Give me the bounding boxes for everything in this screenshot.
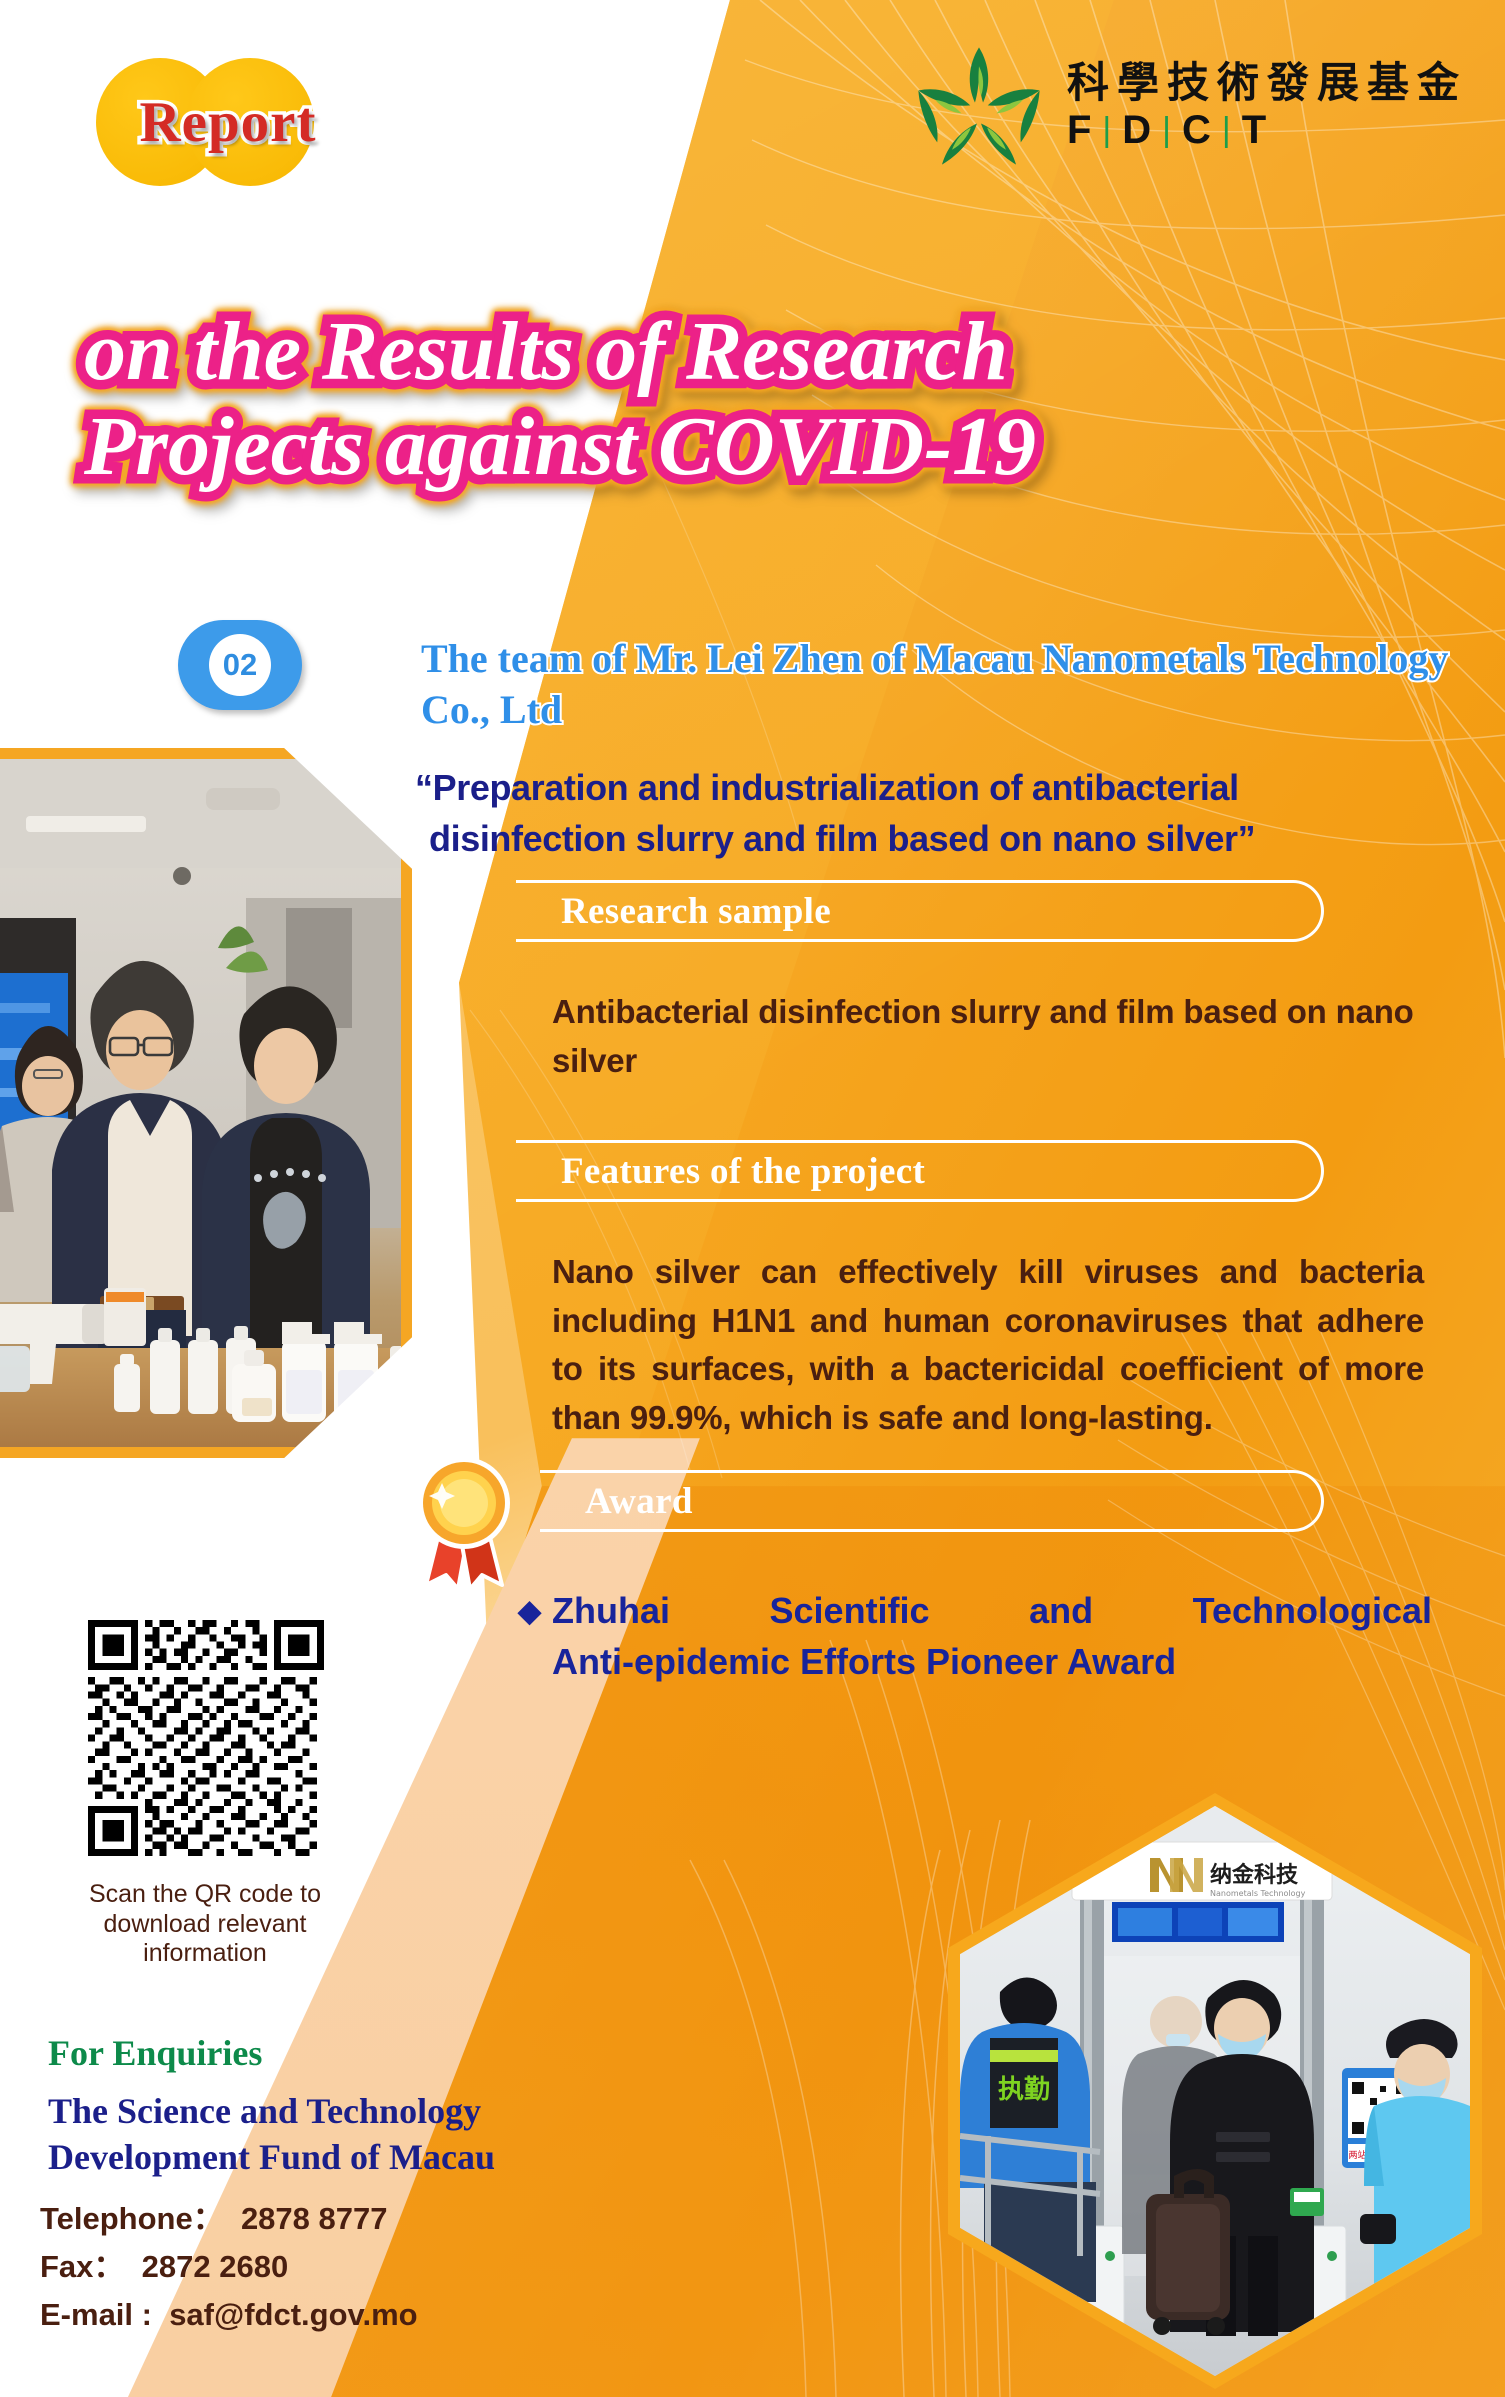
contact-telephone: Telephone： 2878 8777 [40,2195,600,2243]
fdct-separator-2: | [1162,113,1173,147]
section-header-research-sample-label: Research sample [516,890,831,933]
poster-root: Report 科學技術發展基金 [0,0,1505,2397]
fdct-logo: 科學技術發展基金 F | D | C | T [909,42,1467,170]
contact-details: Telephone： 2878 8777 Fax： 2872 2680 E-ma… [40,2195,600,2339]
poster-title: on the Results of Research Projects agai… [84,305,1414,495]
project-title: “Preparation and industrialization of an… [415,762,1395,864]
qr-caption-line-3: information [40,1939,370,1969]
svg-text:纳金科技: 纳金科技 [1210,1862,1299,1888]
qr-caption-line-2: download relevant [40,1910,370,1940]
section-body-features: Nano silver can effectively kill viruses… [552,1248,1424,1442]
fdct-letter-d: D [1122,110,1153,150]
section-header-research-sample: Research sample [516,880,1324,942]
section-header-features-label: Features of the project [516,1150,925,1193]
fdct-letter-c: C [1182,110,1213,150]
organisation-name-line-1: The Science and Technology [48,2088,568,2134]
project-number-badge: 02 [178,620,302,710]
fdct-separator-1: | [1102,113,1113,147]
fdct-logo-chinese: 科學技術發展基金 [1067,62,1467,104]
poster-title-line-1: on the Results of Research [84,305,1414,400]
fdct-logo-text: 科學技術發展基金 F | D | C | T [1067,62,1467,150]
section-header-award: Award [540,1470,1324,1532]
organisation-name: The Science and Technology Development F… [48,2088,568,2180]
contact-fax: Fax： 2872 2680 [40,2243,600,2291]
project-title-line-2: disinfection slurry and film based on na… [415,813,1395,864]
project-title-line-1: “Preparation and industrialization of an… [415,767,1239,808]
award-list-item: ◆ Zhuhai Scientific and Technological An… [552,1585,1432,1687]
enquiries-heading: For Enquiries [48,2032,262,2074]
award-item-line-1: Zhuhai Scientific and Technological [552,1585,1432,1636]
qr-caption-line-1: Scan the QR code to [40,1880,370,1910]
award-item-line-2: Anti-epidemic Efforts Pioneer Award [552,1641,1176,1682]
fdct-letter-t: T [1242,110,1268,150]
report-badge: Report [78,58,378,180]
project-number-value: 02 [209,634,271,696]
diamond-bullet-icon: ◆ [518,1591,541,1634]
contact-email[interactable]: E-mail : saf@fdct.gov.mo [40,2291,600,2339]
section-body-research-sample: Antibacterial disinfection slurry and fi… [552,988,1424,1085]
award-medal-icon [408,1455,520,1595]
qr-code[interactable] [88,1620,324,1856]
section-header-features: Features of the project [516,1140,1324,1202]
team-photo-frame [0,748,412,1458]
svg-text:Nanometals Technology: Nanometals Technology [1210,1889,1306,1898]
organisation-name-line-2: Development Fund of Macau [48,2134,568,2180]
report-badge-label: Report [78,90,378,155]
team-photo [0,748,412,1458]
section-header-award-label: Award [540,1480,693,1523]
qr-caption: Scan the QR code to download relevant in… [40,1880,370,1969]
fdct-letter-f: F [1067,110,1093,150]
poster-title-line-2: Projects against COVID-19 [84,400,1414,495]
svg-text:执勤: 执勤 [998,2075,1050,2105]
fdct-logo-letters: F | D | C | T [1067,110,1467,150]
fdct-separator-3: | [1222,113,1233,147]
fdct-pinwheel-icon [909,42,1049,170]
team-name: The team of Mr. Lei Zhen of Macau Nanome… [421,633,1456,735]
award-list: ◆ Zhuhai Scientific and Technological An… [552,1585,1432,1687]
